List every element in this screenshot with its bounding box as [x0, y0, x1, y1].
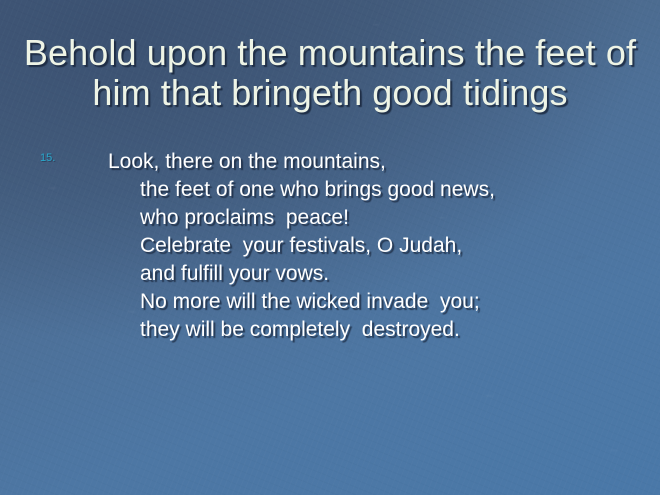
verse-row: Celebrate your festivals, O Judah, [0, 232, 660, 260]
verse-row: and fulfill your vows. [0, 260, 660, 288]
verse-row: they will be completely destroyed. [0, 316, 660, 344]
verse-row: No more will the wicked invade you; [0, 288, 660, 316]
verse-text-line-1: Look, there on the mountains, [108, 148, 386, 176]
title-line-2: him that bringeth good tidings [8, 73, 652, 113]
presentation-slide: Behold upon the mountains the feet of hi… [0, 0, 660, 495]
title-line-1: Behold upon the mountains the feet of [8, 33, 652, 73]
verse-text-line-2: the feet of one who brings good news, [140, 176, 495, 204]
verse-row: the feet of one who brings good news, [0, 176, 660, 204]
verse-text-line-6: No more will the wicked invade you; [140, 288, 480, 316]
verse-number: 15. [40, 153, 55, 164]
verse-text-line-3: who proclaims peace! [140, 204, 349, 232]
verse-text-line-5: and fulfill your vows. [140, 260, 329, 288]
verse-text-line-4: Celebrate your festivals, O Judah, [140, 232, 462, 260]
slide-content: Behold upon the mountains the feet of hi… [0, 0, 660, 495]
verse-row: 15. Look, there on the mountains, [0, 148, 660, 176]
verse-text-line-7: they will be completely destroyed. [140, 316, 460, 344]
slide-title: Behold upon the mountains the feet of hi… [8, 33, 652, 113]
slide-body: 15. Look, there on the mountains, the fe… [0, 148, 660, 344]
verse-row: who proclaims peace! [0, 204, 660, 232]
